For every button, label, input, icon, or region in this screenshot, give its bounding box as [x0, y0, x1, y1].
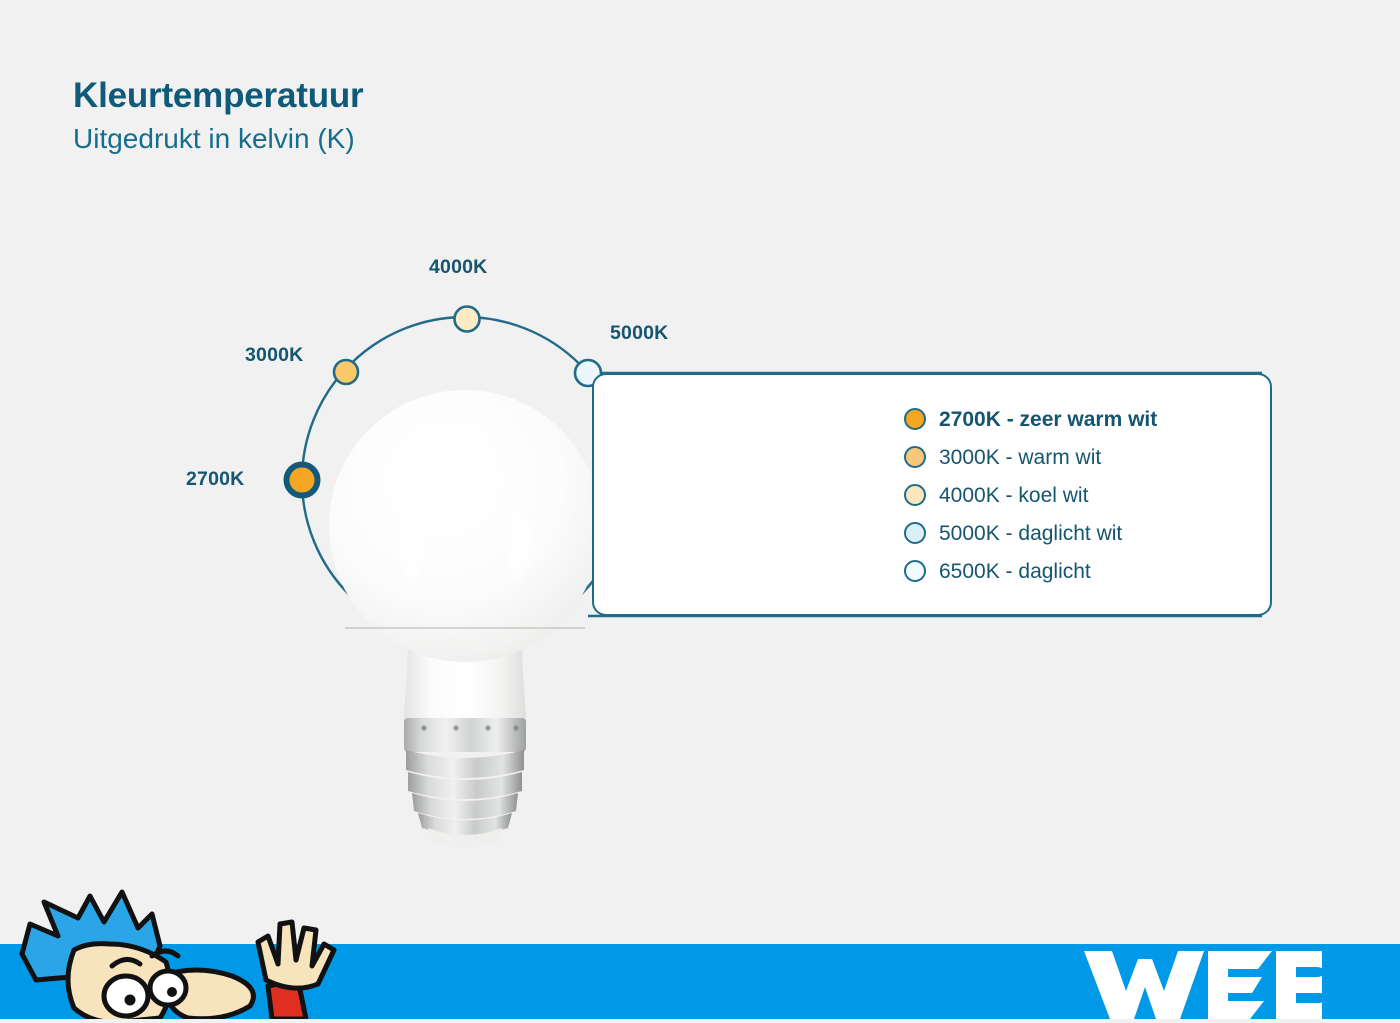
tick-label-4000k: 4000K — [429, 256, 487, 279]
mascot-eye-right — [150, 971, 186, 1005]
tick-label-3000k: 3000K — [245, 344, 303, 367]
mascot-pupil-left — [125, 995, 136, 1006]
light-bulb-illustration — [300, 330, 630, 850]
mascot-pupil-right — [167, 987, 177, 997]
legend-item-2700k[interactable]: 2700K - zeer warm wit — [904, 400, 1157, 438]
legend-list: 2700K - zeer warm wit 3000K - warm wit 4… — [904, 400, 1157, 590]
bulb-screw-threads — [406, 750, 524, 835]
legend-item-4000k[interactable]: 4000K - koel wit — [904, 476, 1157, 514]
legend-swatch-5000k — [904, 522, 926, 544]
legend-item-6500k[interactable]: 6500K - daglicht — [904, 552, 1157, 590]
mascot-brow-right — [152, 951, 178, 956]
legend-swatch-2700k — [904, 408, 926, 430]
legend-swatch-4000k — [904, 484, 926, 506]
color-temperature-diagram: 2700K 3000K 4000K 5000K 6500K 2700K - ze… — [0, 0, 1400, 944]
legend-label-4000k: 4000K - koel wit — [939, 485, 1088, 506]
bulb-cap-collar — [404, 718, 526, 752]
legend-swatch-6500k — [904, 560, 926, 582]
legend-item-3000k[interactable]: 3000K - warm wit — [904, 438, 1157, 476]
mascot-eye-left — [104, 976, 148, 1016]
tick-label-2700k: 2700K — [186, 468, 244, 491]
legend-label-5000k: 5000K - daglicht wit — [939, 523, 1122, 544]
mascot-illustration — [0, 884, 360, 1019]
legend-label-6500k: 6500K - daglicht — [939, 561, 1091, 582]
legend-label-2700k: 2700K - zeer warm wit — [939, 409, 1157, 430]
tick-label-5000k: 5000K — [610, 322, 668, 345]
mascot-hand — [258, 922, 334, 988]
legend-item-5000k[interactable]: 5000K - daglicht wit — [904, 514, 1157, 552]
weba-logo — [1082, 947, 1322, 1023]
infographic-canvas: Kleurtemperatuur Uitgedrukt in kelvin (K… — [0, 0, 1400, 1019]
legend-label-3000k: 3000K - warm wit — [939, 447, 1101, 468]
legend-panel: 2700K - zeer warm wit 3000K - warm wit 4… — [592, 373, 1272, 616]
legend-swatch-3000k — [904, 446, 926, 468]
